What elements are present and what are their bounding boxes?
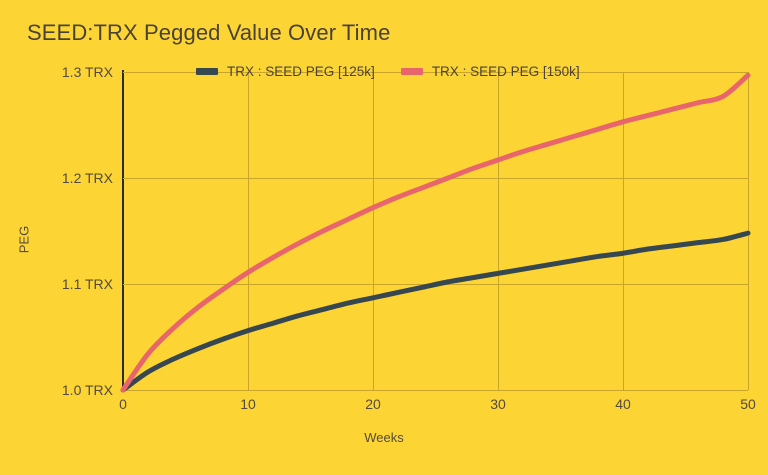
x-tick-label: 50	[718, 396, 768, 412]
y-axis-title: PEG	[17, 210, 32, 270]
x-tick-label: 30	[468, 396, 528, 412]
chart-legend: TRX : SEED PEG [125k]TRX : SEED PEG [150…	[196, 64, 580, 79]
x-tick-label: 10	[218, 396, 278, 412]
series-lines	[123, 72, 748, 390]
x-axis-title: Weeks	[0, 430, 768, 445]
legend-item[interactable]: TRX : SEED PEG [150k]	[401, 64, 580, 79]
chart-title: SEED:TRX Pegged Value Over Time	[27, 20, 390, 46]
legend-swatch-icon	[196, 68, 218, 75]
series-line	[123, 233, 748, 390]
x-tick-label: 20	[343, 396, 403, 412]
x-tick-label: 40	[593, 396, 653, 412]
legend-swatch-icon	[401, 68, 423, 75]
legend-label: TRX : SEED PEG [150k]	[432, 64, 580, 79]
gridline-horizontal	[123, 390, 748, 391]
y-tick-label: 1.2 TRX	[31, 170, 113, 186]
chart-container: SEED:TRX Pegged Value Over Time PEG Week…	[0, 0, 768, 475]
x-tick-label: 0	[93, 396, 153, 412]
plot-area	[123, 72, 748, 390]
legend-item[interactable]: TRX : SEED PEG [125k]	[196, 64, 375, 79]
y-tick-label: 1.3 TRX	[31, 64, 113, 80]
legend-label: TRX : SEED PEG [125k]	[227, 64, 375, 79]
y-tick-label: 1.1 TRX	[31, 276, 113, 292]
